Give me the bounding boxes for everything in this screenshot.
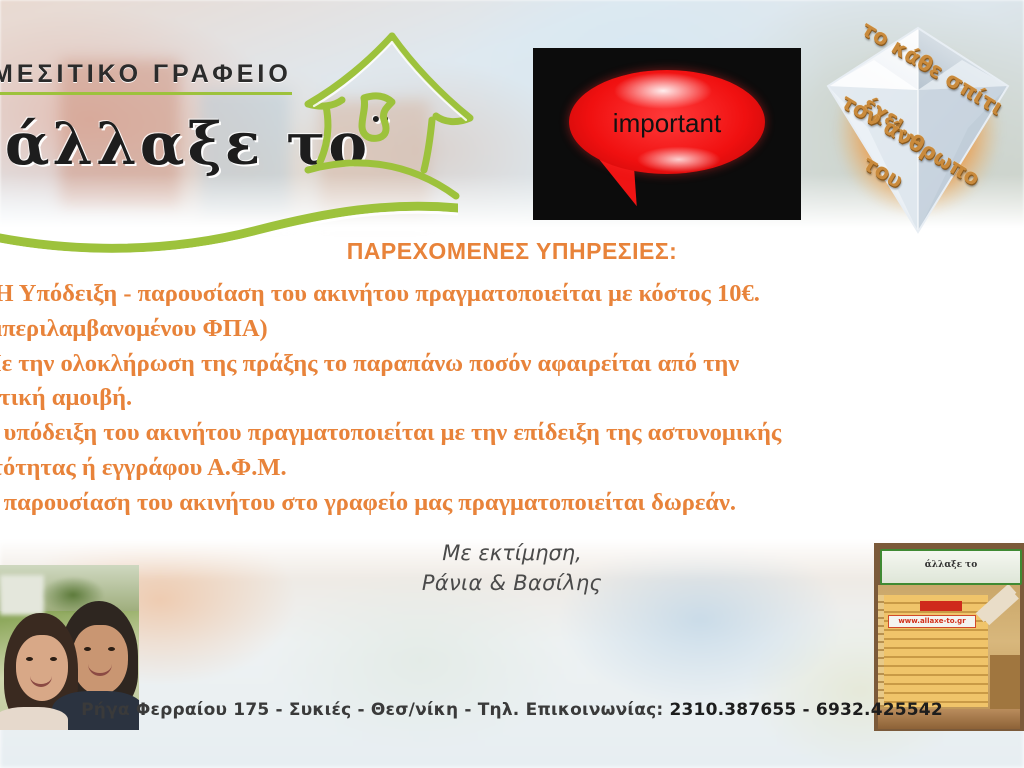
speech-bubble-icon: important bbox=[569, 70, 765, 174]
signature-line-2: Ράνια & Βασίλης bbox=[0, 568, 1024, 598]
logo-tagline: ΜΕΣΙΤΙΚΟ ΓΡΑΦΕΙΟ bbox=[0, 60, 292, 95]
shop-sign: άλλαξε το bbox=[880, 549, 1022, 585]
services-line: (συμπεριλαμβανομένου ΦΠΑ) bbox=[0, 312, 1024, 347]
footer-contact: Ρήγα Φερραίου 175 - Συκιές - Θεσ/νίκη - … bbox=[0, 700, 1024, 720]
signature-block: Με εκτίμηση, Ράνια & Βασίλης bbox=[0, 538, 1024, 599]
services-line: 1. Η Υπόδειξη - παρουσίαση του ακινήτου … bbox=[0, 277, 1024, 312]
services-line: 4. Η παρουσίαση του ακινήτου στο γραφείο… bbox=[0, 486, 1024, 521]
poster-canvas: ΜΕΣΙΤΙΚΟ ΓΡΑΦΕΙΟ "άλλαξε το¨ important bbox=[0, 0, 1024, 768]
footer-phones: 2310.387655 - 6932.425542 bbox=[669, 700, 942, 720]
photo-woman-face bbox=[16, 635, 68, 701]
shop-website-text: www.allaxe-to.gr bbox=[889, 617, 975, 625]
footer-address: Ρήγα Φερραίου 175 - Συκιές - Θεσ/νίκη - … bbox=[81, 700, 669, 720]
services-section: ΠΑΡΕΧΟΜΕΝΕΣ ΥΠΗΡΕΣΙΕΣ: 1. Η Υπόδειξη - π… bbox=[0, 238, 1024, 520]
house-outline-icon bbox=[300, 30, 540, 230]
important-badge: important bbox=[533, 48, 801, 220]
shop-website-banner: www.allaxe-to.gr bbox=[888, 615, 976, 628]
photo-man-eye bbox=[84, 647, 91, 651]
shop-sign-text: άλλαξε το bbox=[882, 560, 1020, 570]
photo-woman-eye bbox=[26, 657, 33, 661]
diamond-slogan-graphic: το κάθε σπίτι έχει... τον άνθρωπο του bbox=[812, 20, 1024, 240]
photo-woman-eye bbox=[50, 657, 57, 661]
services-line: 3. Η υπόδειξη του ακινήτου πραγματοποιεί… bbox=[0, 416, 1024, 451]
important-label: important bbox=[569, 108, 765, 139]
services-title: ΠΑΡΕΧΟΜΕΝΕΣ ΥΠΗΡΕΣΙΕΣ: bbox=[0, 238, 1024, 265]
services-line: 2. Με την ολοκλήρωση της πράξης το παραπ… bbox=[0, 347, 1024, 382]
shop-listings-panel bbox=[884, 595, 988, 707]
signature-line-1: Με εκτίμηση, bbox=[0, 538, 1024, 568]
photo-man-face bbox=[72, 625, 128, 695]
services-line: ταυτότητας ή εγγράφου Α.Φ.Μ. bbox=[0, 451, 1024, 486]
photo-man-eye bbox=[108, 647, 115, 651]
shop-red-tag bbox=[920, 601, 962, 611]
services-line: μεσιτική αμοιβή. bbox=[0, 381, 1024, 416]
